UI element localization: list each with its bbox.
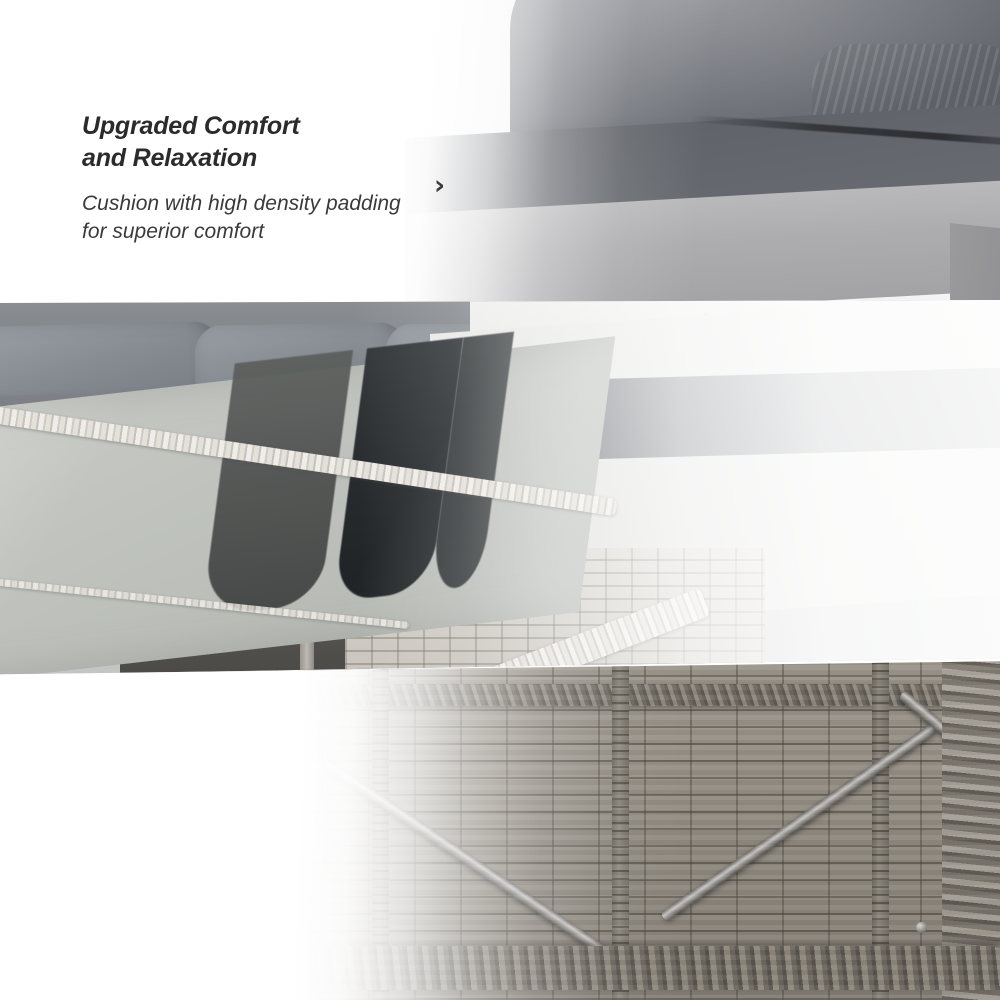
rattan-weave-scene	[0, 660, 1000, 1000]
rattan-end-cap	[942, 660, 1000, 1000]
caption-upgraded-comfort: Upgraded Comfort and Relaxation Cushion …	[82, 110, 401, 246]
panel-title-comfort: Upgraded Comfort and Relaxation	[82, 110, 401, 174]
panel-sturdy-durable: Sturdy & Durable Made of all-weather PE …	[0, 660, 1000, 1000]
rattan-top-rail	[0, 684, 1000, 706]
chevron-right-icon: ›	[434, 172, 445, 199]
cushion-corner	[950, 223, 1000, 312]
rattan-post	[872, 660, 889, 1000]
product-feature-infographic: Upgraded Comfort and Relaxation Cushion …	[0, 0, 1000, 1000]
panel-upgraded-comfort: Upgraded Comfort and Relaxation Cushion …	[0, 0, 1000, 312]
rattan-bottom-rail	[0, 946, 1000, 990]
rattan-post	[612, 660, 629, 1000]
steel-brace	[660, 724, 937, 922]
glass-table-scene	[0, 300, 1000, 675]
rattan-post	[372, 660, 389, 1000]
glass-table-photo	[0, 300, 1000, 675]
panel-tempered-glass: Tempered Glass Thick tempered glass topp…	[0, 300, 1000, 675]
frame-bolt	[916, 922, 927, 933]
panel-body-comfort: Cushion with high density padding for su…	[82, 190, 401, 246]
rattan-frame-photo	[0, 660, 1000, 1000]
steel-brace	[898, 690, 997, 776]
steel-brace	[324, 760, 612, 959]
